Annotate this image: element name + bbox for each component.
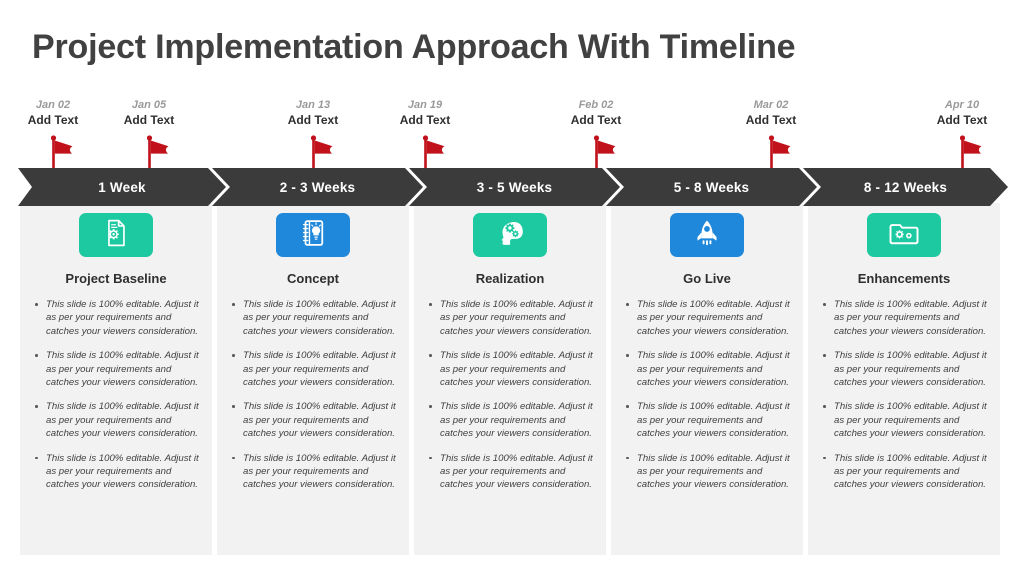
timeline-arrow-bar: 1 Week2 - 3 Weeks3 - 5 Weeks5 - 8 Weeks8…: [18, 168, 1008, 206]
marker-label: Add Text: [902, 112, 1022, 128]
phase-bullet: This slide is 100% editable. Adjust it a…: [426, 349, 594, 389]
document-gear-icon: [101, 218, 131, 253]
phase-bullet: This slide is 100% editable. Adjust it a…: [229, 298, 397, 338]
date-marker: Jan 19Add Text: [365, 98, 485, 128]
date-marker: Jan 05Add Text: [89, 98, 209, 128]
phase-card-2[interactable]: Concept This slide is 100% editable. Adj…: [217, 203, 409, 555]
marker-date: Apr 10: [902, 98, 1022, 112]
timeline-segment-5[interactable]: 8 - 12 Weeks: [803, 168, 1008, 206]
segment-duration-label: 5 - 8 Weeks: [674, 180, 750, 195]
phase-bullet-list: This slide is 100% editable. Adjust it a…: [32, 298, 200, 492]
marker-date: Jan 05: [89, 98, 209, 112]
date-marker: Jan 13Add Text: [253, 98, 373, 128]
slide-canvas: Project Implementation Approach With Tim…: [0, 0, 1024, 576]
phase-bullet: This slide is 100% editable. Adjust it a…: [32, 298, 200, 338]
phase-icon-box: [79, 213, 153, 257]
phase-bullet-list: This slide is 100% editable. Adjust it a…: [820, 298, 988, 492]
phase-bullet: This slide is 100% editable. Adjust it a…: [32, 349, 200, 389]
timeline-segment-2[interactable]: 2 - 3 Weeks: [212, 168, 423, 206]
segment-duration-label: 3 - 5 Weeks: [477, 180, 553, 195]
marker-label: Add Text: [89, 112, 209, 128]
phase-bullet: This slide is 100% editable. Adjust it a…: [820, 452, 988, 492]
phase-bullet: This slide is 100% editable. Adjust it a…: [623, 298, 791, 338]
phase-card-5[interactable]: Enhancements This slide is 100% editable…: [808, 203, 1000, 555]
timeline-segment-4[interactable]: 5 - 8 Weeks: [606, 168, 817, 206]
phase-columns: Project Baseline This slide is 100% edit…: [20, 203, 1008, 555]
head-gears-icon: [495, 218, 525, 253]
timeline-segment-1[interactable]: 1 Week: [18, 168, 226, 206]
rocket-icon: [692, 218, 722, 253]
phase-title: Concept: [229, 271, 397, 286]
phase-card-3[interactable]: Realization This slide is 100% editable.…: [414, 203, 606, 555]
phase-title: Go Live: [623, 271, 791, 286]
marker-date: Jan 13: [253, 98, 373, 112]
phase-icon-box: [276, 213, 350, 257]
segment-duration-label: 2 - 3 Weeks: [280, 180, 356, 195]
phase-card-4[interactable]: Go Live This slide is 100% editable. Adj…: [611, 203, 803, 555]
phase-bullet: This slide is 100% editable. Adjust it a…: [229, 400, 397, 440]
marker-date: Jan 19: [365, 98, 485, 112]
marker-label: Add Text: [253, 112, 373, 128]
notebook-lightbulb-icon: [298, 218, 328, 253]
phase-bullet: This slide is 100% editable. Adjust it a…: [623, 400, 791, 440]
phase-bullet-list: This slide is 100% editable. Adjust it a…: [229, 298, 397, 492]
phase-icon-box: [670, 213, 744, 257]
folder-gears-icon: [889, 218, 919, 253]
marker-date: Mar 02: [711, 98, 831, 112]
phase-bullet: This slide is 100% editable. Adjust it a…: [820, 298, 988, 338]
segment-duration-label: 1 Week: [98, 180, 145, 195]
phase-bullet: This slide is 100% editable. Adjust it a…: [623, 452, 791, 492]
phase-bullet: This slide is 100% editable. Adjust it a…: [32, 452, 200, 492]
segment-duration-label: 8 - 12 Weeks: [864, 180, 947, 195]
phase-bullet: This slide is 100% editable. Adjust it a…: [426, 298, 594, 338]
date-marker: Mar 02Add Text: [711, 98, 831, 128]
phase-bullet: This slide is 100% editable. Adjust it a…: [229, 349, 397, 389]
phase-bullet: This slide is 100% editable. Adjust it a…: [229, 452, 397, 492]
marker-label: Add Text: [536, 112, 656, 128]
timeline-segment-3[interactable]: 3 - 5 Weeks: [409, 168, 620, 206]
phase-icon-box: [867, 213, 941, 257]
phase-bullet: This slide is 100% editable. Adjust it a…: [426, 452, 594, 492]
phase-bullet: This slide is 100% editable. Adjust it a…: [426, 400, 594, 440]
phase-title: Realization: [426, 271, 594, 286]
phase-bullet-list: This slide is 100% editable. Adjust it a…: [623, 298, 791, 492]
phase-bullet-list: This slide is 100% editable. Adjust it a…: [426, 298, 594, 492]
phase-title: Project Baseline: [32, 271, 200, 286]
phase-bullet: This slide is 100% editable. Adjust it a…: [820, 400, 988, 440]
marker-date: Feb 02: [536, 98, 656, 112]
phase-bullet: This slide is 100% editable. Adjust it a…: [32, 400, 200, 440]
phase-card-1[interactable]: Project Baseline This slide is 100% edit…: [20, 203, 212, 555]
phase-icon-box: [473, 213, 547, 257]
phase-title: Enhancements: [820, 271, 988, 286]
marker-label: Add Text: [711, 112, 831, 128]
phase-bullet: This slide is 100% editable. Adjust it a…: [820, 349, 988, 389]
date-marker: Apr 10Add Text: [902, 98, 1022, 128]
marker-label: Add Text: [365, 112, 485, 128]
phase-bullet: This slide is 100% editable. Adjust it a…: [623, 349, 791, 389]
date-marker: Feb 02Add Text: [536, 98, 656, 128]
